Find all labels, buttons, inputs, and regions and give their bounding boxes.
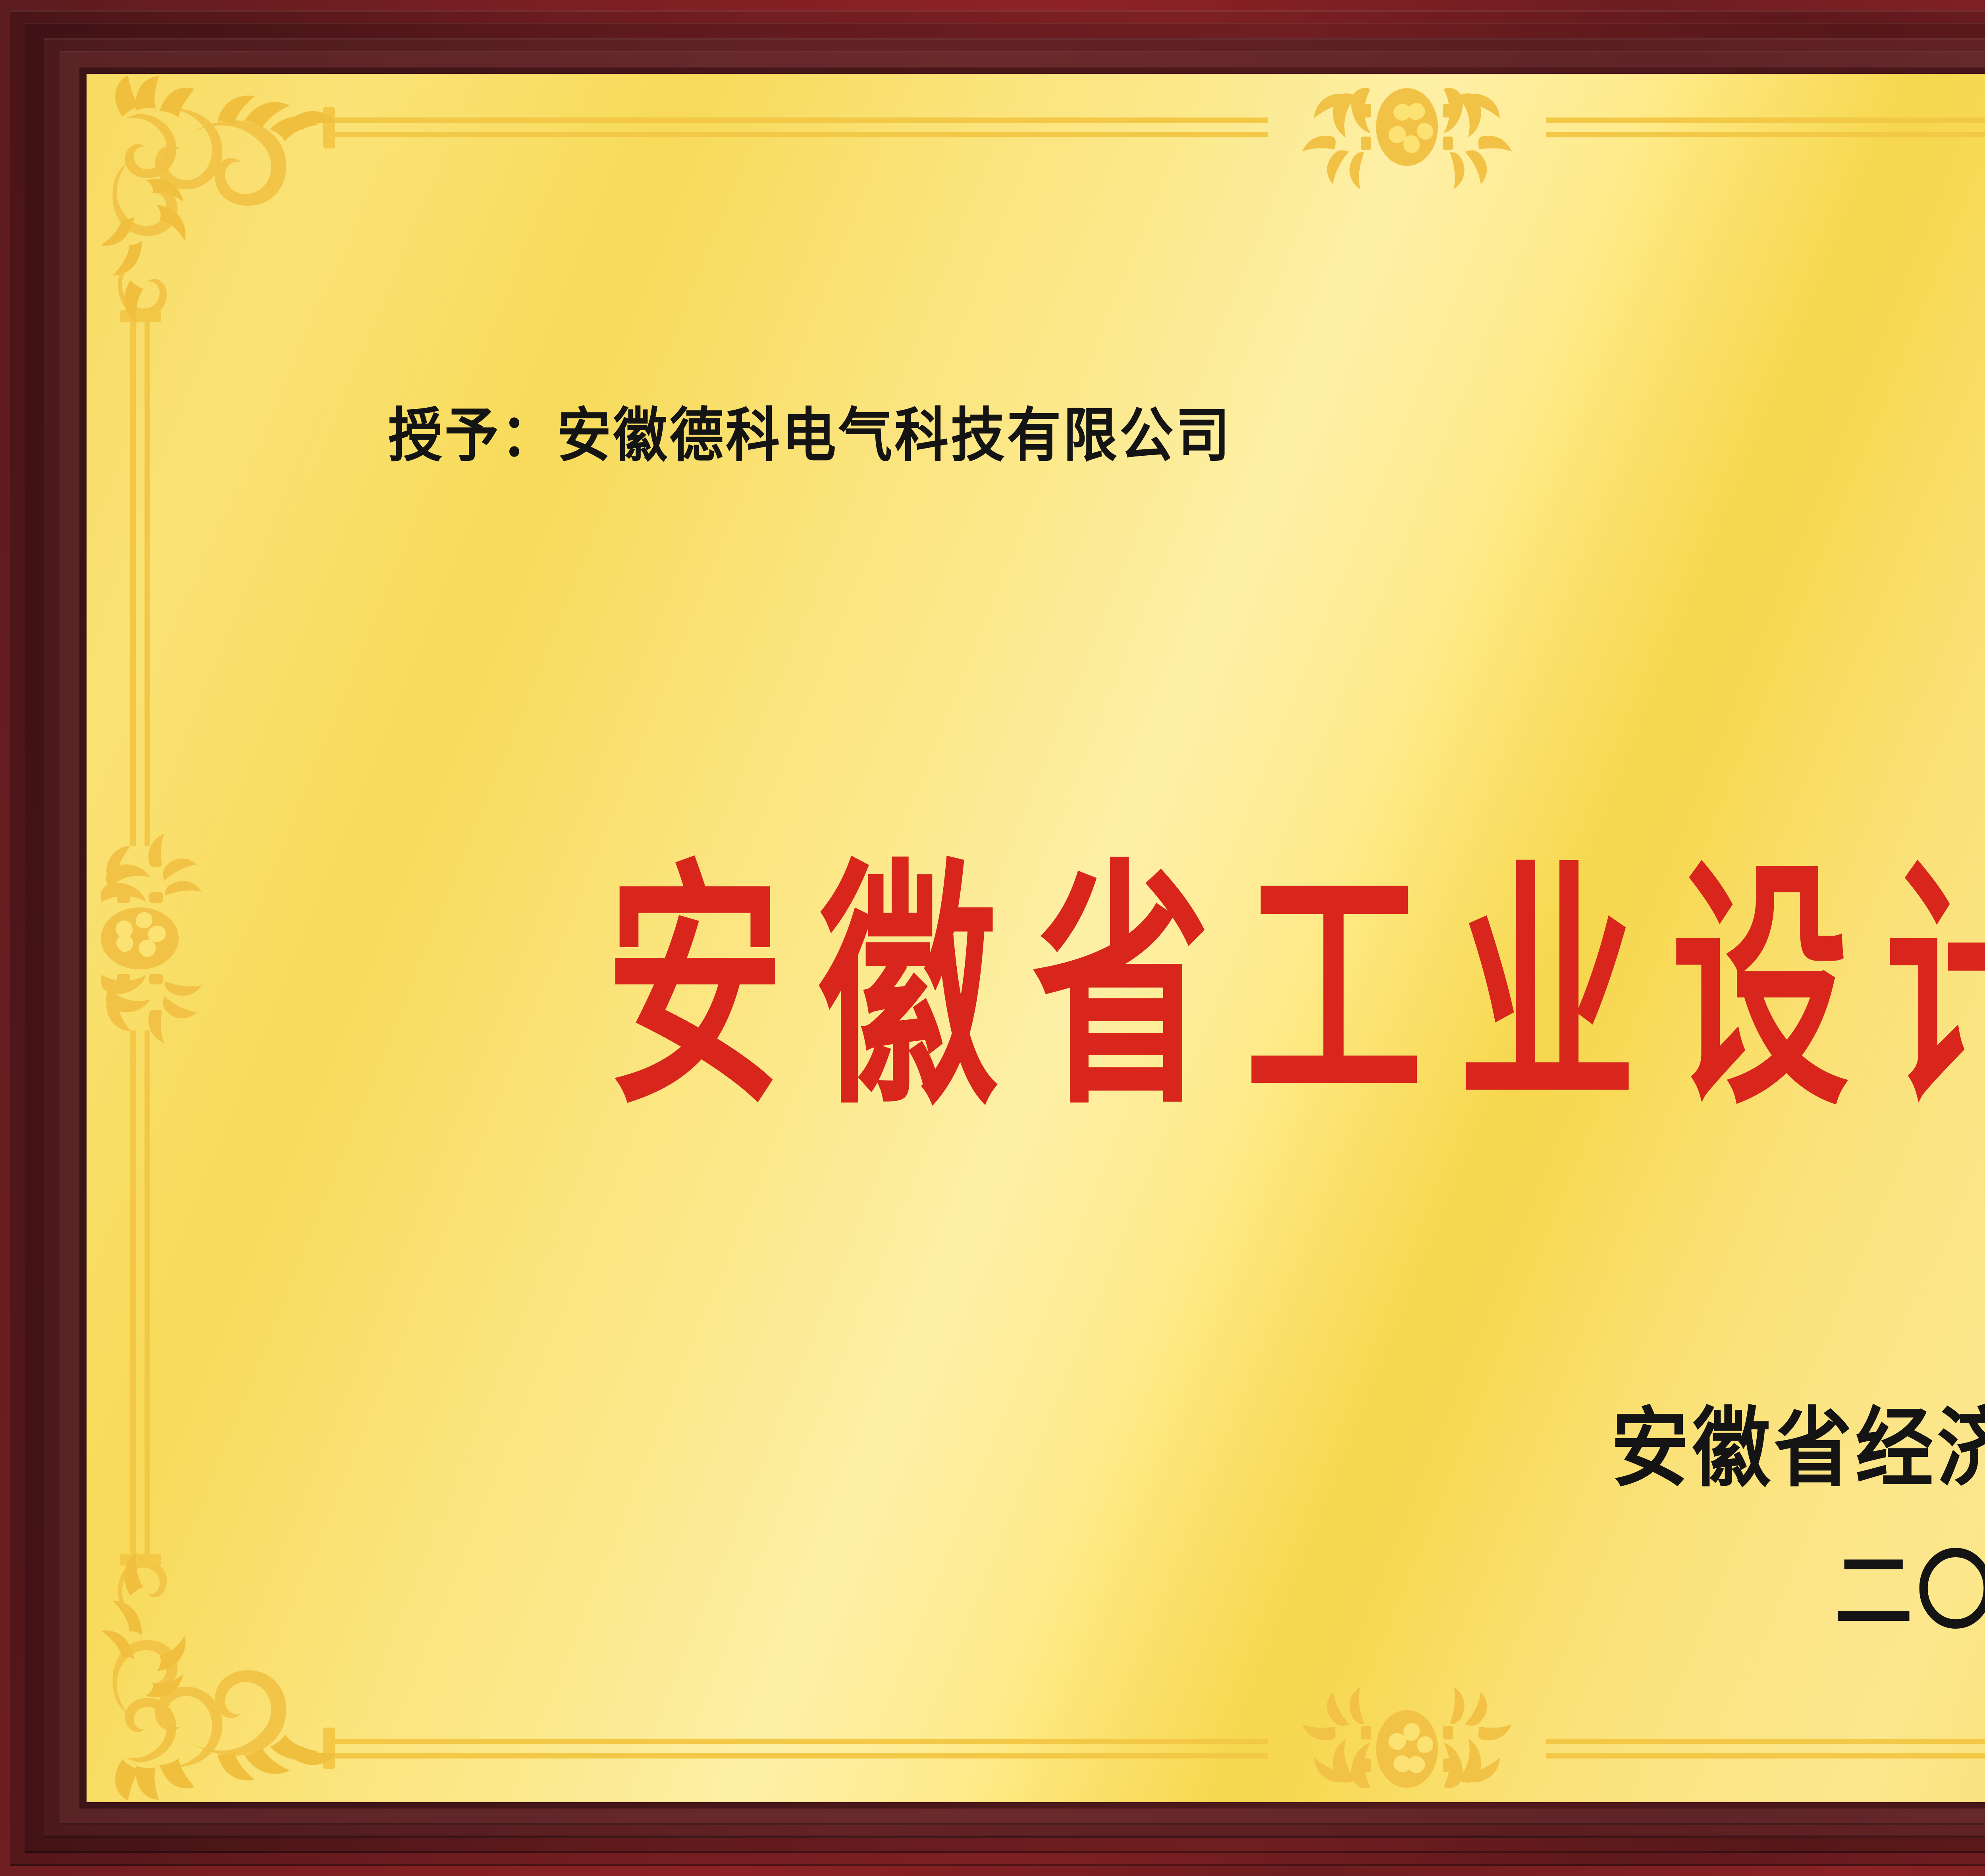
issue-date: 二〇二〇年七月	[1835, 1521, 1985, 1646]
edge-medallion-top	[1302, 88, 1512, 189]
gold-plate: 授予：安徽德科电气科技有限公司 安 徽 省 工 业 设 计 中 心 安徽省经济和…	[87, 74, 1985, 1802]
edge-medallion-bottom	[1302, 1687, 1512, 1788]
corner-ornament-top-left	[101, 75, 692, 680]
edge-medallion-left	[101, 834, 202, 1043]
plaque-title: 安 徽 省 工 业 设 计 中 心	[499, 776, 1985, 1201]
award-plaque: 授予：安徽德科电气科技有限公司 安 徽 省 工 业 设 计 中 心 安徽省经济和…	[0, 0, 1985, 1876]
corner-ornament-bottom-left	[101, 1196, 692, 1801]
issuing-authority: 安徽省经济和信息化厅	[1611, 1378, 1985, 1503]
award-recipient-line: 授予：安徽德科电气科技有限公司	[388, 387, 1232, 473]
